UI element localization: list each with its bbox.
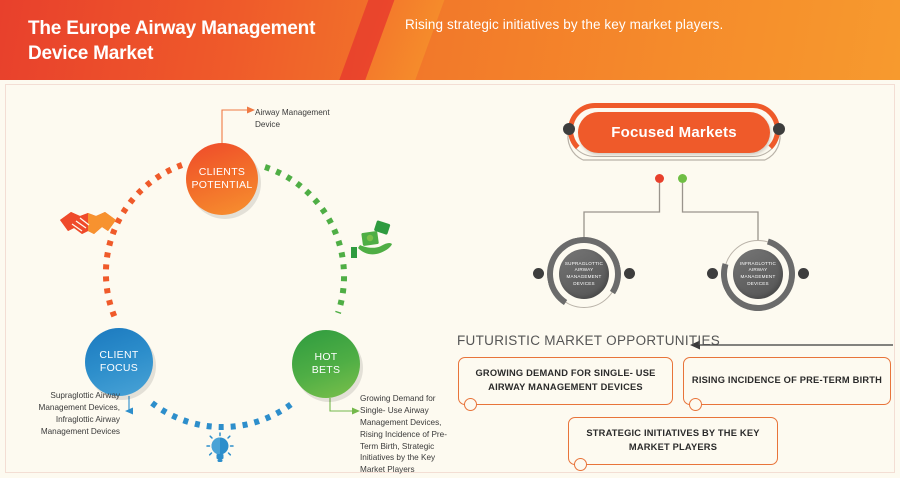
segment-infraglottic[interactable]: INFRAGLOTTIC AIRWAY MANAGEMENT DEVICES [721, 237, 795, 311]
node-clients-potential[interactable]: CLIENTSPOTENTIAL [186, 143, 258, 215]
callout-clients-potential: Airway Management Device [255, 107, 351, 131]
opportunity-knob-2 [689, 398, 702, 411]
opportunity-growing-demand[interactable]: GROWING DEMAND FOR SINGLE- USE AIRWAY MA… [458, 357, 673, 405]
header-banner: The Europe Airway Management Device Mark… [0, 0, 900, 80]
opportunity-strategic-initiatives-label: STRATEGIC INITIATIVES BY THE KEY MARKET … [569, 427, 777, 455]
futuristic-section-title: FUTURISTIC MARKET OPPORTUNITIES [457, 333, 720, 348]
header-subtitle: Rising strategic initiatives by the key … [405, 17, 723, 32]
opportunity-strategic-initiatives[interactable]: STRATEGIC INITIATIVES BY THE KEY MARKET … [568, 417, 778, 465]
opportunity-growing-demand-label: GROWING DEMAND FOR SINGLE- USE AIRWAY MA… [459, 367, 672, 395]
opportunity-rising-incidence[interactable]: RISING INCIDENCE OF PRE-TERM BIRTH [683, 357, 891, 405]
callout-hot-bets: Growing Demand for Single- Use Airway Ma… [360, 393, 452, 476]
opportunity-knob-1 [464, 398, 477, 411]
segment-dot-left-outer [533, 268, 544, 279]
opportunity-knob-3 [574, 458, 587, 471]
segment-supraglottic[interactable]: SUPRAGLOTTIC AIRWAY MANAGEMENT DEVICES [547, 237, 621, 311]
lightbulb-icon [205, 432, 235, 466]
handshake-icon [58, 200, 118, 246]
node-clients-potential-label: CLIENTSPOTENTIAL [191, 166, 252, 192]
indicator-dot-red [655, 174, 664, 183]
callout-client-focus: Supraglottic Airway Management Devices, … [18, 390, 120, 438]
segment-dot-left-inner [624, 268, 635, 279]
capsule-dot-right [773, 123, 785, 135]
indicator-dot-green [678, 174, 687, 183]
capsule-dot-left [563, 123, 575, 135]
segment-dot-right-inner [707, 268, 718, 279]
segment-dot-right-outer [798, 268, 809, 279]
opportunity-rising-incidence-label: RISING INCIDENCE OF PRE-TERM BIRTH [692, 374, 882, 388]
focused-markets-capsule-wrap: Focused Markets [568, 103, 780, 157]
node-hot-bets[interactable]: HOTBETS [292, 330, 360, 398]
segment-supraglottic-label: SUPRAGLOTTIC AIRWAY MANAGEMENT DEVICES [559, 249, 609, 299]
segment-infraglottic-label: INFRAGLOTTIC AIRWAY MANAGEMENT DEVICES [733, 249, 783, 299]
infographic-root: The Europe Airway Management Device Mark… [0, 0, 900, 478]
focused-markets-button[interactable]: Focused Markets [578, 112, 770, 153]
focused-markets-label: Focused Markets [611, 124, 737, 141]
page-title: The Europe Airway Management Device Mark… [28, 16, 358, 66]
node-client-focus[interactable]: CLIENTFOCUS [85, 328, 153, 396]
hand-money-icon [348, 218, 394, 262]
node-client-focus-label: CLIENTFOCUS [99, 349, 138, 375]
node-hot-bets-label: HOTBETS [312, 351, 341, 377]
